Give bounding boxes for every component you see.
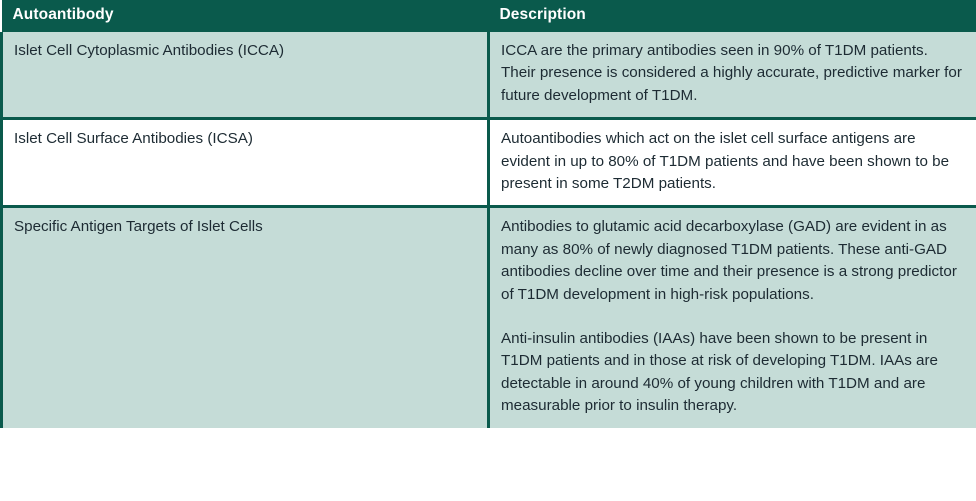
cell-description: Autoantibodies which act on the islet ce… bbox=[489, 119, 976, 207]
autoantibody-name: Specific Antigen Targets of Islet Cells bbox=[14, 216, 475, 238]
table-body: Islet Cell Cytoplasmic Antibodies (ICCA)… bbox=[2, 32, 976, 428]
description-paragraph: Autoantibodies which act on the islet ce… bbox=[501, 128, 964, 195]
cell-autoantibody: Islet Cell Cytoplasmic Antibodies (ICCA) bbox=[2, 32, 489, 119]
autoantibody-table-container: Autoantibody Description Islet Cell Cyto… bbox=[0, 0, 976, 501]
table-row: Islet Cell Surface Antibodies (ICSA) Aut… bbox=[2, 119, 976, 207]
cell-description: Antibodies to glutamic acid decarboxylas… bbox=[489, 207, 976, 428]
table-row: Specific Antigen Targets of Islet Cells … bbox=[2, 207, 976, 428]
autoantibody-name: Islet Cell Surface Antibodies (ICSA) bbox=[14, 128, 475, 150]
description-paragraph: ICCA are the primary antibodies seen in … bbox=[501, 40, 964, 107]
cell-autoantibody: Islet Cell Surface Antibodies (ICSA) bbox=[2, 119, 489, 207]
cell-description: ICCA are the primary antibodies seen in … bbox=[489, 32, 976, 119]
table-header: Autoantibody Description bbox=[2, 0, 976, 32]
table-header-row: Autoantibody Description bbox=[2, 0, 976, 32]
autoantibody-name: Islet Cell Cytoplasmic Antibodies (ICCA) bbox=[14, 40, 475, 62]
column-header-autoantibody: Autoantibody bbox=[2, 0, 489, 32]
description-paragraph: Antibodies to glutamic acid decarboxylas… bbox=[501, 216, 964, 306]
table-row: Islet Cell Cytoplasmic Antibodies (ICCA)… bbox=[2, 32, 976, 119]
cell-autoantibody: Specific Antigen Targets of Islet Cells bbox=[2, 207, 489, 428]
description-paragraph: Anti-insulin antibodies (IAAs) have been… bbox=[501, 328, 964, 418]
autoantibody-table: Autoantibody Description Islet Cell Cyto… bbox=[0, 0, 976, 428]
column-header-description: Description bbox=[489, 0, 976, 32]
